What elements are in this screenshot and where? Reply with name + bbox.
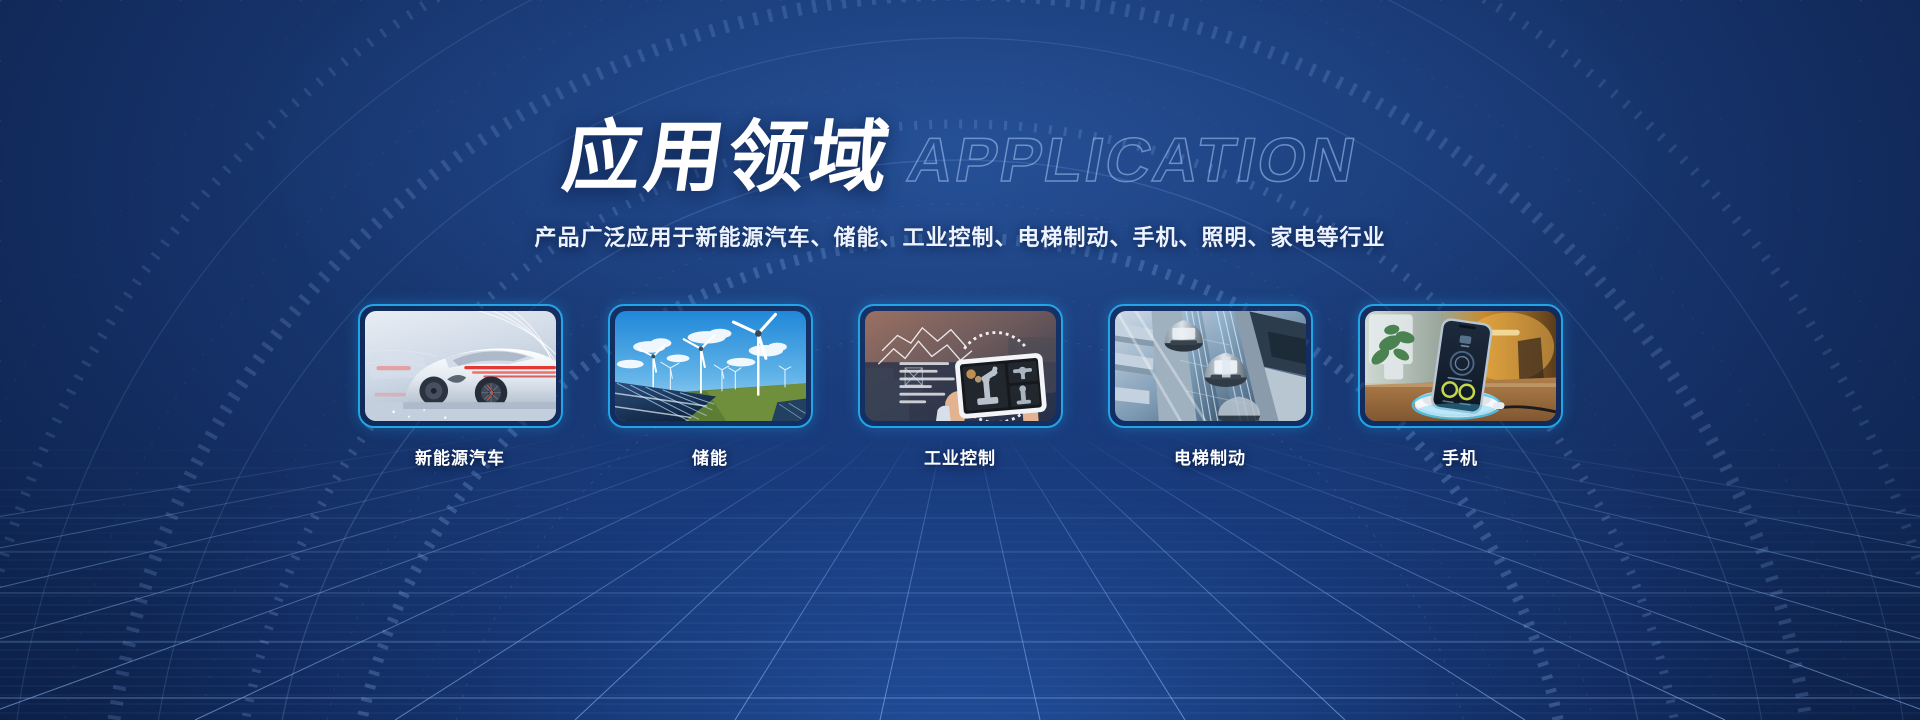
glass-elevator-image	[1115, 311, 1306, 421]
card-frame[interactable]	[358, 304, 563, 428]
page-subtitle: 产品广泛应用于新能源汽车、储能、工业控制、电梯制动、手机、照明、家电等行业	[0, 220, 1920, 252]
card-label: 手机	[1358, 444, 1563, 469]
page-title: 应用领域	[558, 118, 897, 196]
card-label: 储能	[608, 444, 813, 469]
card-label: 工业控制	[858, 444, 1063, 469]
phone-wireless-charger-image	[1365, 311, 1556, 421]
application-card[interactable]: 手机	[1358, 304, 1563, 469]
solar-wind-farm-image	[615, 311, 806, 421]
page-title-english: APPLICATION	[902, 130, 1362, 196]
application-card[interactable]: 新能源汽车	[358, 304, 563, 469]
card-frame[interactable]	[1358, 304, 1563, 428]
banner-header: 应用领域 APPLICATION 产品广泛应用于新能源汽车、储能、工业控制、电梯…	[0, 0, 1920, 252]
industrial-tablet-image	[865, 311, 1056, 421]
horizontal-scanlines	[0, 460, 1920, 720]
application-card-list: 新能源汽车	[0, 304, 1920, 469]
application-card[interactable]: 储能	[608, 304, 813, 469]
card-label: 新能源汽车	[358, 444, 563, 469]
title-row: 应用领域 APPLICATION	[0, 118, 1920, 196]
card-frame[interactable]	[1108, 304, 1313, 428]
card-frame[interactable]	[858, 304, 1063, 428]
application-card[interactable]: 工业控制	[858, 304, 1063, 469]
card-frame[interactable]	[608, 304, 813, 428]
application-card[interactable]: 电梯制动	[1108, 304, 1313, 469]
application-banner: 应用领域 APPLICATION 产品广泛应用于新能源汽车、储能、工业控制、电梯…	[0, 0, 1920, 720]
sports-car-image	[365, 311, 556, 421]
card-label: 电梯制动	[1108, 444, 1313, 469]
